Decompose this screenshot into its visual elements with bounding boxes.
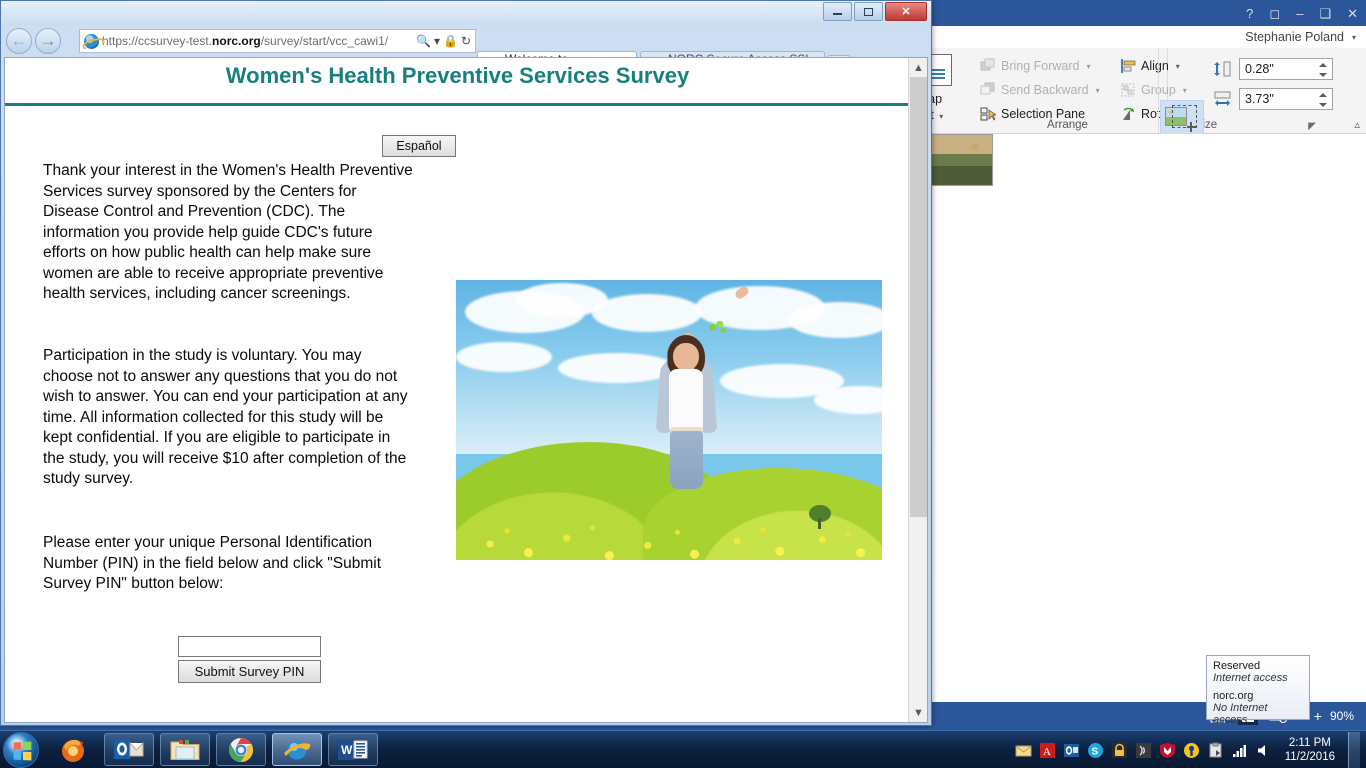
taskbar-item-internet-explorer[interactable] <box>272 733 322 766</box>
hero-image <box>456 280 882 560</box>
taskbar-item-file-explorer[interactable] <box>160 733 210 766</box>
intro-paragraph: Thank your interest in the Women's Healt… <box>43 161 415 305</box>
send-backward-icon <box>980 82 996 98</box>
security-key-icon[interactable] <box>1183 742 1200 759</box>
word-icon: W <box>338 737 368 763</box>
windows-logo-icon <box>14 742 32 761</box>
svg-text:S: S <box>1091 746 1098 757</box>
outlook-icon <box>114 737 144 763</box>
clock-time: 2:11 PM <box>1285 736 1335 750</box>
shape-height-icon <box>1213 60 1233 78</box>
ribbon-display-options-icon[interactable]: ◻ <box>1269 7 1280 20</box>
shape-width-spin-arrows[interactable] <box>1317 90 1329 110</box>
close-icon[interactable]: ✕ <box>885 2 927 21</box>
account-label: Stephanie Poland <box>1245 30 1344 44</box>
ie-navigation-bar: ← → https://ccsurvey-test.norc.org/surve… <box>1 25 931 57</box>
pin-instructions-paragraph: Please enter your unique Personal Identi… <box>43 533 415 595</box>
zoom-level-label[interactable]: 90% <box>1330 709 1354 723</box>
woman-figure <box>643 325 735 532</box>
browser-viewport: Women's Health Preventive Services Surve… <box>4 57 928 723</box>
restore-icon[interactable] <box>854 2 883 21</box>
taskbar-item-firefox[interactable] <box>48 733 98 766</box>
back-button[interactable]: ← <box>6 28 32 54</box>
cloud <box>456 342 552 372</box>
shape-width-input[interactable] <box>1240 89 1310 109</box>
chevron-down-icon[interactable]: ▾ <box>1096 86 1100 95</box>
bring-forward-icon <box>980 58 996 74</box>
shape-width-row <box>1213 88 1333 110</box>
language-toggle-espanol-button[interactable]: Español <box>382 135 456 157</box>
chevron-down-icon[interactable]: ▾ <box>434 34 440 48</box>
svg-text:A: A <box>1043 746 1051 758</box>
align-icon <box>1120 58 1136 74</box>
internet-explorer-icon <box>84 34 99 49</box>
skype-icon[interactable]: S <box>1087 742 1104 759</box>
forward-button[interactable]: → <box>35 28 61 54</box>
title-divider <box>5 103 910 106</box>
survey-page: Women's Health Preventive Services Surve… <box>5 58 910 723</box>
send-backward-button[interactable]: Send Backward ▾ <box>976 78 1104 102</box>
outlook-icon[interactable] <box>1063 742 1080 759</box>
svg-text:W: W <box>341 743 353 757</box>
chrome-icon <box>227 736 255 764</box>
participation-paragraph: Participation in the study is voluntary.… <box>43 346 415 490</box>
collapse-ribbon-icon[interactable]: ▵ <box>1354 118 1360 131</box>
bring-forward-button[interactable]: Bring Forward ▾ <box>976 54 1104 78</box>
firefox-icon <box>59 736 87 764</box>
clock-date: 11/2/2016 <box>1285 750 1335 764</box>
refresh-icon[interactable]: ↻ <box>461 34 471 48</box>
clipboard-icon[interactable] <box>1207 742 1224 759</box>
size-group-label: Size <box>1131 119 1281 131</box>
shape-height-spin-arrows[interactable] <box>1317 60 1329 80</box>
search-icon[interactable]: 🔍 <box>416 34 431 48</box>
network-signal-icon[interactable] <box>1231 742 1248 759</box>
ribbon-group-wrap-text[interactable]: rap xt ▾ <box>930 48 968 134</box>
start-button[interactable] <box>3 732 39 768</box>
taskbar-item-word[interactable]: W <box>328 733 378 766</box>
send-backward-label: Send Backward <box>1001 83 1089 97</box>
bring-forward-label: Bring Forward <box>1001 59 1080 73</box>
folder-icon <box>170 738 200 762</box>
shape-height-input[interactable] <box>1240 59 1310 79</box>
scroll-down-icon[interactable]: ▼ <box>909 703 928 722</box>
minimize-icon[interactable]: – <box>1296 7 1303 20</box>
adobe-icon[interactable]: A <box>1039 742 1056 759</box>
windows-taskbar: W A S <box>0 730 1366 768</box>
group-objects-icon <box>1120 82 1136 98</box>
show-desktop-button[interactable] <box>1348 732 1360 768</box>
shape-height-row <box>1213 58 1333 80</box>
shape-width-icon <box>1213 90 1233 108</box>
scroll-up-icon[interactable]: ▲ <box>909 58 928 77</box>
chevron-down-icon[interactable]: ▾ <box>1087 62 1091 71</box>
word-window-controls[interactable]: ? ◻ – ❑ ✕ <box>1246 2 1358 24</box>
network-name: Reserved <box>1213 660 1303 672</box>
help-icon[interactable]: ? <box>1246 7 1253 20</box>
ie-window-buttons: ✕ <box>823 2 927 21</box>
safenet-lock-icon[interactable] <box>1111 742 1128 759</box>
restore-icon[interactable]: ❑ <box>1319 7 1331 20</box>
internet-explorer-icon <box>282 736 312 764</box>
connection-status: No Internet access <box>1213 702 1303 726</box>
close-icon[interactable]: ✕ <box>1347 7 1358 20</box>
page-scrollbar[interactable]: ▲ ▼ <box>908 58 927 722</box>
size-dialog-launcher-icon[interactable]: ◤ <box>1308 121 1316 132</box>
shape-height-stepper[interactable] <box>1239 58 1333 80</box>
mail-icon[interactable] <box>1015 742 1032 759</box>
network-status: Internet access <box>1213 672 1303 684</box>
page-title: Women's Health Preventive Services Surve… <box>5 63 910 89</box>
taskbar-item-chrome[interactable] <box>216 733 266 766</box>
scrollbar-thumb[interactable] <box>910 77 927 517</box>
shape-width-stepper[interactable] <box>1239 88 1333 110</box>
mcafee-icon[interactable] <box>1159 742 1176 759</box>
volume-icon[interactable] <box>1255 742 1272 759</box>
network-status-popup: Reserved Internet access norc.org No Int… <box>1206 655 1310 720</box>
chevron-down-icon[interactable]: ▾ <box>1352 33 1356 42</box>
internet-explorer-window: ✕ ← → https://ccsurvey-test.norc.org/sur… <box>0 0 932 726</box>
survey-pin-input[interactable] <box>178 636 321 657</box>
ie-title-bar[interactable]: ✕ <box>1 1 931 25</box>
sound-waves-icon[interactable] <box>1135 742 1152 759</box>
word-inline-image[interactable] <box>931 134 993 186</box>
zoom-in-button[interactable]: + <box>1314 708 1322 724</box>
taskbar-item-outlook[interactable] <box>104 733 154 766</box>
minimize-icon[interactable] <box>823 2 852 21</box>
taskbar-clock[interactable]: 2:11 PM 11/2/2016 <box>1285 736 1335 764</box>
submit-survey-pin-button[interactable]: Submit Survey PIN <box>178 660 321 683</box>
address-text[interactable]: https://ccsurvey-test.norc.org/survey/st… <box>102 34 413 48</box>
word-account-name[interactable]: Stephanie Poland ▾ <box>1245 27 1356 47</box>
connection-name: norc.org <box>1213 690 1303 702</box>
lock-icon[interactable]: 🔒 <box>443 34 458 48</box>
system-tray: A S 2:11 PM 11/2/2016 <box>1015 731 1366 768</box>
address-bar[interactable]: https://ccsurvey-test.norc.org/survey/st… <box>79 29 476 53</box>
crop-icon <box>1165 105 1199 135</box>
